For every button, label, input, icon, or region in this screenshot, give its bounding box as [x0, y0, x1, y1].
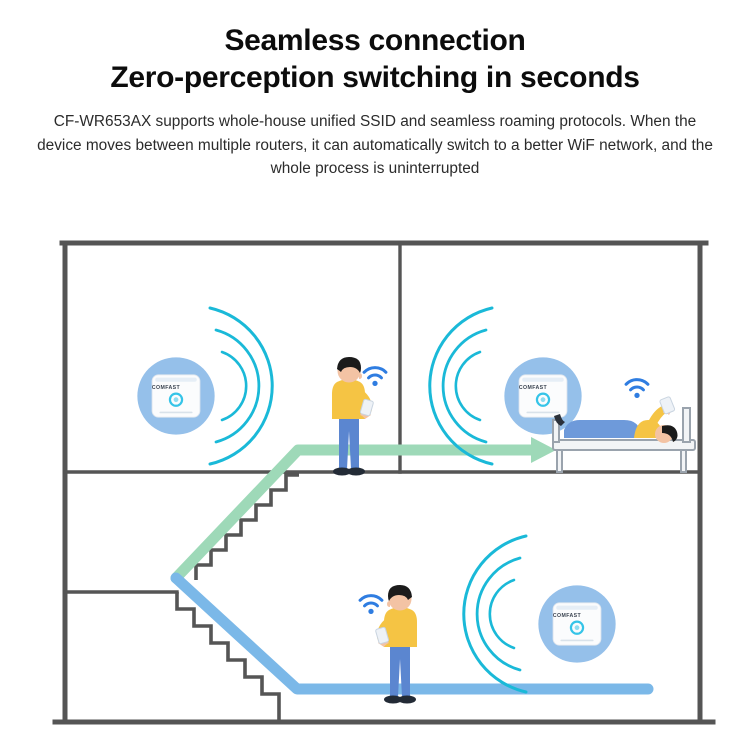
roaming-path-upper	[176, 437, 556, 578]
page-subtitle: CF-WR653AX supports whole-house unified …	[32, 110, 718, 180]
wifi-badge-ground-person	[360, 596, 382, 614]
page-title-line-1: Seamless connection	[0, 22, 750, 59]
person-standing-upper-floor	[332, 357, 374, 476]
wifi-arcs-upper-left	[210, 308, 272, 464]
staircase-upper-flight	[196, 475, 299, 580]
house-diagram: COMFAST COMFAST COMFAST	[0, 228, 750, 740]
house-outline	[55, 243, 713, 722]
page-title-line-2: Zero-perception switching in seconds	[0, 59, 750, 96]
router-lower-right[interactable]	[538, 585, 615, 662]
wifi-badge-upper-person	[364, 368, 386, 386]
header: Seamless connection Zero-perception swit…	[0, 0, 750, 181]
router-upper-right-brand: COMFAST	[519, 385, 548, 391]
product-infographic-page: Seamless connection Zero-perception swit…	[0, 0, 750, 750]
router-upper-left-brand: COMFAST	[152, 385, 181, 391]
router-upper-left[interactable]	[137, 357, 214, 434]
wifi-arcs-lower-right	[464, 536, 526, 692]
wifi-badge-lying-person	[626, 380, 648, 398]
wifi-arcs-upper-right	[430, 308, 492, 464]
diagram-container: COMFAST COMFAST COMFAST	[0, 228, 750, 740]
router-lower-right-brand: COMFAST	[553, 613, 582, 619]
